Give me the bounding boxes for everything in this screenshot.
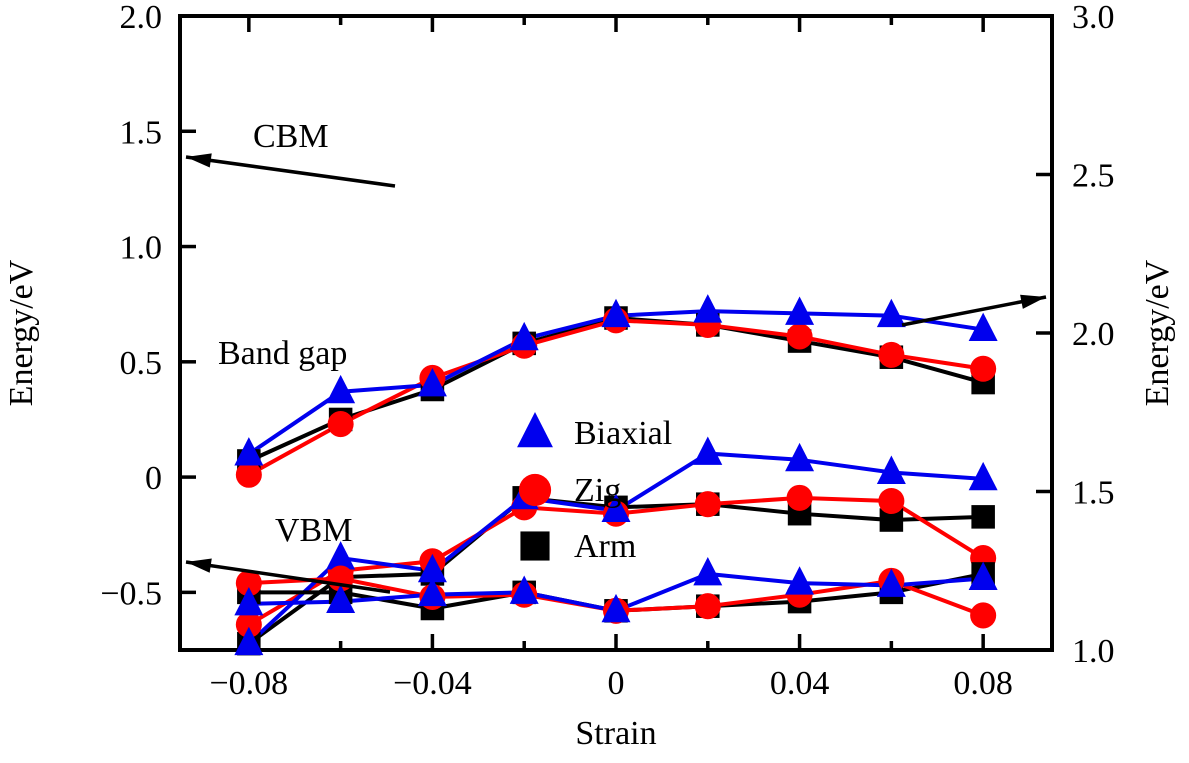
legend-marker-arm (520, 531, 549, 560)
left-tick-label: 1.5 (120, 114, 163, 151)
right-axis-tick-labels: 1.01.52.02.53.0 (1072, 0, 1115, 670)
datapoint-biaxial (693, 294, 722, 322)
datapoint-zig (328, 411, 354, 437)
y-axis-label-left: Energy/eV (3, 259, 40, 406)
datapoint-zig (878, 342, 904, 368)
legend-marker-zig (519, 474, 551, 506)
right-tick-label: 1.5 (1072, 475, 1115, 512)
annotation-band-gap: Band gap (218, 335, 347, 372)
datapoint-biaxial (969, 462, 998, 490)
left-tick-label: 1.0 (120, 230, 163, 267)
arrow-band-gap-to-right-axis (902, 295, 1046, 325)
left-axis-ticks (180, 131, 196, 592)
datapoint-biaxial (785, 443, 814, 471)
legend-label-arm: Arm (574, 528, 636, 565)
left-tick-label: 0 (145, 460, 162, 497)
top-axis-ticks (249, 16, 983, 32)
right-axis-ticks (1036, 175, 1052, 492)
legend-label-zig: Zig (574, 472, 621, 509)
legend-marker-biaxial (517, 412, 553, 447)
bottom-tick-label: 0.04 (770, 665, 830, 702)
datapoint-zig (695, 593, 721, 619)
left-tick-label: 2.0 (120, 0, 163, 36)
left-tick-label: −0.5 (100, 575, 162, 612)
left-tick-label: 0.5 (120, 345, 163, 382)
bottom-axis-ticks (249, 634, 983, 650)
arrow-band-gap-to-right-axis-head (1020, 295, 1046, 309)
arrow-cbm-to-left-axis-head (186, 153, 212, 167)
bottom-tick-label: −0.08 (209, 665, 288, 702)
datapoint-biaxial (877, 299, 906, 327)
datapoint-zig (787, 485, 813, 511)
x-axis-label: Strain (575, 715, 656, 752)
arrow-vbm-to-left-axis-head (186, 559, 212, 573)
annotation-vbm: VBM (275, 512, 352, 549)
datapoint-zig (878, 488, 904, 514)
series-group-band-gap (234, 294, 997, 488)
y-axis-label-right: Energy/eV (1139, 259, 1176, 406)
right-tick-label: 3.0 (1072, 0, 1115, 36)
band-structure-strain-chart: −0.500.51.01.52.0 1.01.52.02.53.0 −0.08−… (0, 0, 1189, 763)
datapoint-zig (236, 462, 262, 488)
right-tick-label: 2.5 (1072, 158, 1115, 195)
datapoint-zig (970, 356, 996, 382)
right-tick-label: 2.0 (1072, 316, 1115, 353)
datapoint-arm (971, 505, 995, 529)
bottom-tick-label: −0.04 (393, 665, 472, 702)
bottom-tick-label: 0.08 (953, 665, 1013, 702)
right-tick-label: 1.0 (1072, 633, 1115, 670)
arrow-cbm-to-left-axis-shaft (186, 157, 395, 186)
left-axis-tick-labels: −0.500.51.01.52.0 (100, 0, 162, 612)
datapoint-biaxial (785, 296, 814, 324)
bottom-axis-tick-labels: −0.08−0.0400.040.08 (209, 665, 1012, 702)
datapoint-zig (695, 491, 721, 517)
legend-label-biaxial: Biaxial (574, 415, 672, 452)
datapoint-biaxial (693, 557, 722, 585)
bottom-tick-label: 0 (608, 665, 625, 702)
datapoint-zig (970, 602, 996, 628)
datapoint-zig (787, 323, 813, 349)
arrow-cbm-to-left-axis (186, 153, 395, 186)
datapoint-biaxial (693, 437, 722, 465)
annotation-cbm: CBM (253, 118, 329, 155)
legend (517, 412, 553, 561)
chart-figure: −0.500.51.01.52.0 1.01.52.02.53.0 −0.08−… (0, 0, 1189, 763)
